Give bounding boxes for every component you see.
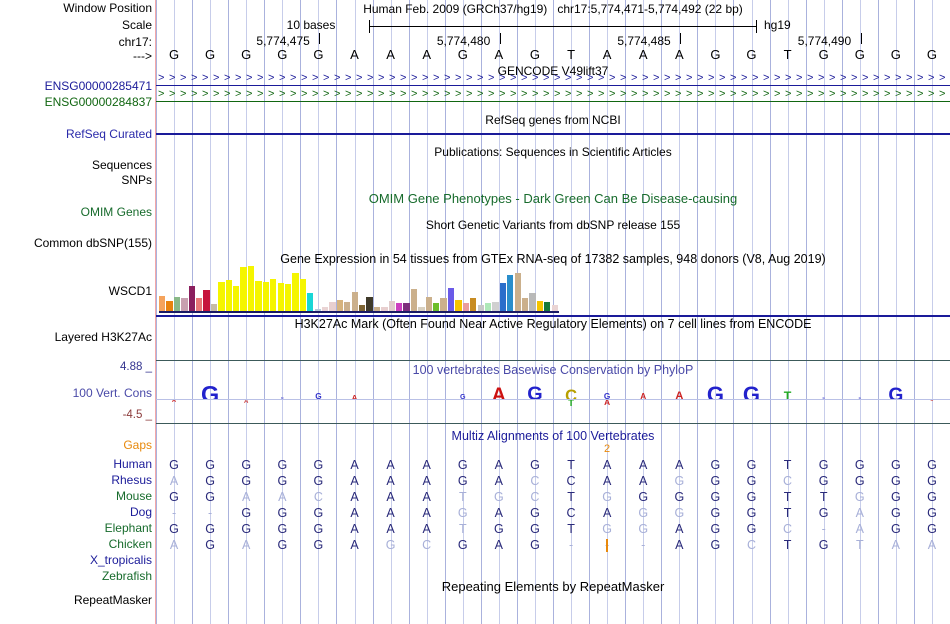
gene-strand-arrow-icon: > [686,89,692,100]
conservation-logo-letter: C [553,388,589,399]
alignment-base: G [481,521,517,537]
alignment-base: G [914,489,950,505]
alignment-base: G [733,473,769,489]
gene-strand-arrow-icon: > [444,89,450,100]
sequence-base: T [770,47,806,62]
label-100-vert-cons[interactable]: 100 Vert. Cons [4,387,156,400]
gtex-tissue-bar[interactable] [344,302,350,311]
sequence-base: A [373,47,409,62]
multiz-center-label: Multiz Alignments of 100 Vertebrates [156,429,950,443]
alignment-base: A [373,521,409,537]
gene-strand-arrow-icon: > [928,73,934,84]
gene-strand-arrow-icon: > [796,73,802,84]
alignment-base: T [445,521,481,537]
gene-strand-arrow-icon: > [455,73,461,84]
alignment-base: G [481,489,517,505]
gtex-tissue-bar[interactable] [470,298,476,311]
alignment-base: G [156,489,192,505]
reference-sequence-row: GGGGGAAAGAGTAAAGGTGGGG [156,47,950,65]
gene-strand-arrow-icon: > [620,73,626,84]
alignment-base: G [264,505,300,521]
gtex-tissue-bar[interactable] [263,282,269,311]
alignment-base: A [336,505,372,521]
gene-strand-arrow-icon: > [224,89,230,100]
gene-strand-arrow-icon: > [345,89,351,100]
gene-strand-arrow-icon: > [235,89,241,100]
alignment-base: A [481,473,517,489]
gene-strand-arrow-icon: > [422,73,428,84]
publications-center-label: Publications: Sequences in Scientific Ar… [156,145,950,159]
alignment-base: G [445,473,481,489]
gene-strand-arrow-icon: > [719,89,725,100]
conservation-logo-letter: G [878,386,914,399]
species-label-human[interactable]: Human [4,458,156,471]
alignment-base: A [409,521,445,537]
dbsnp-center-label: Short Genetic Variants from dbSNP releas… [156,218,950,232]
sequence-base: G [806,47,842,62]
gtex-tissue-bar[interactable] [448,288,454,311]
ruler-tick-mark [861,33,862,44]
gene-strand-arrow-icon: > [554,73,560,84]
alignment-base: G [625,505,661,521]
gene-strand-arrow-icon: > [433,89,439,100]
gene-strand-arrow-icon: > [774,89,780,100]
gene-strand-arrow-icon: > [818,89,824,100]
alignment-base: A [589,473,625,489]
alignment-base: G [661,489,697,505]
gtex-tissue-bar[interactable] [440,298,446,311]
gtex-tissue-bar[interactable] [292,273,298,311]
alignment-base: G [806,537,842,553]
gene-line [156,101,950,102]
conservation-logo-letter: A [661,391,697,399]
alignment-base: A [409,457,445,473]
track-label-column: Window Position Scale chr17: ---> ENSG00… [0,0,156,624]
gtex-tissue-bar[interactable] [485,303,491,311]
gtex-tissue-bar[interactable] [329,302,335,311]
alignment-base: - [553,537,589,553]
alignment-row-chicken[interactable]: AGAGGAGCGAG---AGCTGTAA [156,537,950,553]
alignment-base: G [842,489,878,505]
gtex-tissue-bar[interactable] [159,296,165,311]
alignment-row-dog[interactable]: --GGGAAAGAGCAGGGGTGAGG [156,505,950,521]
gene-strand-arrow-icon: > [488,89,494,100]
gene-strand-arrow-icon: > [598,89,604,100]
gene-strand-arrow-icon: > [532,73,538,84]
alignment-base: A [336,521,372,537]
gene-strand-arrow-icon: > [301,73,307,84]
alignment-base: G [192,473,228,489]
gene-strand-arrow-icon: > [686,73,692,84]
alignment-base: A [228,489,264,505]
gene-strand-arrow-icon: > [246,73,252,84]
gtex-tissue-bar[interactable] [240,267,246,311]
alignment-base: G [842,473,878,489]
gene-strand-arrow-icon: > [939,89,945,100]
gene-strand-arrow-icon: > [840,73,846,84]
alignment-base: G [878,489,914,505]
gtex-tissue-bar[interactable] [196,298,202,311]
gtex-tissue-bar[interactable] [544,302,550,311]
alignment-base: T [445,489,481,505]
sequence-base: G [300,47,336,62]
gtex-tissue-bar[interactable] [389,301,395,311]
alignment-base: G [697,457,733,473]
gene-strand-arrow-icon: > [312,89,318,100]
alignment-base: C [517,473,553,489]
gtex-tissue-bar[interactable] [181,298,187,311]
gene-strand-arrow-icon: > [521,89,527,100]
gtex-tissue-bar[interactable] [529,293,535,311]
alignment-base: - [156,505,192,521]
alignment-base: A [336,537,372,553]
gene-strand-arrow-icon: > [213,89,219,100]
gene-strand-arrow-icon: > [334,73,340,84]
alignment-row-rhesus[interactable]: AGGGGAAAGACCAAGGGCGGGG [156,473,950,489]
conservation-axis-max: 4.88 _ [4,361,156,374]
gene-strand-arrow-icon: > [422,89,428,100]
alignment-base: - [192,505,228,521]
refseq-divider-line [156,133,950,135]
gene-strand-arrow-icon: > [180,73,186,84]
sequence-base: G [733,47,769,62]
gene-strand-arrow-icon: > [169,73,175,84]
genome-browser-image: Window Position Scale chr17: ---> ENSG00… [0,0,950,624]
alignment-base: C [733,537,769,553]
alignment-base: G [697,473,733,489]
alignment-base: C [770,473,806,489]
gene-strand-arrow-icon: > [675,73,681,84]
label-gene-ensg00000285471[interactable]: ENSG00000285471 [4,80,156,93]
gene-strand-arrow-icon: > [301,89,307,100]
gene-strand-arrow-icon: > [609,89,615,100]
alignment-base: A [336,473,372,489]
gtex-tissue-bar[interactable] [515,273,521,311]
gene-strand-arrow-icon: > [158,73,164,84]
sequence-base: A [481,47,517,62]
alignment-base: A [842,521,878,537]
gap-size-label: 2 [589,444,625,455]
gtex-tissue-bar[interactable] [352,292,358,311]
alignment-base: G [264,537,300,553]
gtex-tissue-bar[interactable] [203,290,209,311]
gene-strand-arrow-icon: > [510,89,516,100]
alignment-base: A [373,457,409,473]
gene-strand-arrow-icon: > [917,89,923,100]
gene-strand-arrow-icon: > [477,89,483,100]
gtex-tissue-bar[interactable] [433,303,439,311]
gene-strand-arrow-icon: > [730,89,736,100]
gene-strand-arrow-icon: > [807,73,813,84]
sequence-base: G [264,47,300,62]
gene-strand-arrow-icon: > [939,73,945,84]
alignment-base: A [661,537,697,553]
alignment-row-elephant[interactable]: GGGGGAAATGGTGGAGGC-AGG [156,521,950,537]
alignment-base: G [517,457,553,473]
label-common-dbsnp[interactable]: Common dbSNP(155) [4,237,156,250]
alignment-row-x_tropicalis[interactable] [156,553,950,569]
sequence-base: G [192,47,228,62]
alignment-base: A [373,473,409,489]
gtex-tissue-bar[interactable] [189,286,195,311]
alignment-base: T [553,521,589,537]
alignment-base: A [481,537,517,553]
gtex-tissue-bar[interactable] [411,289,417,311]
gtex-tissue-bar[interactable] [211,304,217,311]
alignment-base: G [806,505,842,521]
gene-strand-arrow-icon: > [565,89,571,100]
alignment-base: A [625,473,661,489]
gtex-tissue-bar[interactable] [463,303,469,311]
alignment-base: A [336,489,372,505]
gene-strand-arrow-icon: > [642,73,648,84]
alignment-base: G [697,489,733,505]
alignment-base: C [300,489,336,505]
gene-strand-arrow-icon: > [730,73,736,84]
alignment-base: G [300,521,336,537]
gene-strand-arrow-icon: > [466,89,472,100]
gtex-tissue-bar[interactable] [307,293,313,311]
alignment-base: A [409,489,445,505]
alignment-base: G [806,473,842,489]
ruler-position-label: 5,774,485 [617,34,670,48]
ruler-tick-mark [319,33,320,44]
alignment-base: G [661,473,697,489]
alignment-base: G [264,521,300,537]
alignment-base: G [589,521,625,537]
alignment-base: A [878,537,914,553]
gtex-tissue-bar[interactable] [337,300,343,312]
species-label-zebrafish[interactable]: Zebrafish [4,570,156,583]
gene-strand-arrow-icon: > [323,73,329,84]
alignment-base: A [409,473,445,489]
gene-strand-arrow-icon: > [708,73,714,84]
alignment-base: G [697,505,733,521]
gtex-tissue-bar[interactable] [248,266,254,311]
gtex-tissue-bar[interactable] [522,298,528,311]
gene-strand-arrow-icon: > [279,73,285,84]
gene-strand-arrow-icon: > [279,89,285,100]
gtex-expression-barchart[interactable] [159,266,559,311]
gene-strand-arrow-icon: > [323,89,329,100]
gene-strand-arrow-icon: > [202,89,208,100]
refseq-center-label: RefSeq genes from NCBI [156,113,950,127]
label-omim-genes[interactable]: OMIM Genes [4,206,156,219]
gene-strand-arrow-icon: > [664,73,670,84]
gtex-tissue-bar[interactable] [403,303,409,311]
alignment-base: C [409,537,445,553]
gtex-tissue-bar[interactable] [500,283,506,311]
assembly-and-region: Human Feb. 2009 (GRCh37/hg19) chr17:5,77… [156,2,950,16]
label-chrom: chr17: [4,36,156,49]
region-coordinates: chr17:5,774,471-5,774,492 (22 bp) [557,2,742,16]
gtex-tissue-bar[interactable] [300,279,306,311]
gene-strand-arrow-icon: > [268,89,274,100]
gene-strand-arrow-icon: > [356,73,362,84]
gene-strand-arrow-icon: > [499,73,505,84]
gene-strand-arrow-icon: > [576,73,582,84]
gene-strand-arrow-icon: > [411,73,417,84]
gene-strand-arrow-icon: > [884,73,890,84]
gene-strand-arrow-icon: > [257,89,263,100]
gtex-tissue-bar[interactable] [218,282,224,311]
alignment-base: A [481,457,517,473]
label-refseq-curated[interactable]: RefSeq Curated [4,128,156,141]
alignment-base: G [697,537,733,553]
gene-strand-arrow-icon: > [532,89,538,100]
label-snps[interactable]: SNPs [4,174,156,187]
alignment-base: T [553,489,589,505]
gene-strand-arrow-icon: > [213,73,219,84]
gene-strand-arrow-icon: > [290,89,296,100]
gene-strand-arrow-icon: > [312,73,318,84]
alignment-base: A [914,537,950,553]
alignment-base: A [264,489,300,505]
gene-strand-arrow-icon: > [752,73,758,84]
gtex-tissue-bar[interactable] [507,275,513,311]
gene-strand-arrow-icon: > [719,73,725,84]
gene-strand-arrow-icon: > [609,73,615,84]
gene-strand-arrow-icon: > [576,89,582,100]
label-gene-ensg00000284837[interactable]: ENSG00000284837 [4,96,156,109]
species-label-x_tropicalis[interactable]: X_tropicalis [4,554,156,567]
alignment-base: A [625,457,661,473]
gtex-tissue-bar[interactable] [537,301,543,311]
gene-strand-arrow-icon: > [433,73,439,84]
gene-strand-arrow-icon: > [796,89,802,100]
alignment-base: C [770,521,806,537]
alignment-base: A [481,505,517,521]
alignment-base: G [445,537,481,553]
gtex-tissue-bar[interactable] [233,286,239,311]
gene-strand-arrow-icon: > [631,89,637,100]
species-label-dog[interactable]: Dog [4,506,156,519]
alignment-base: G [228,457,264,473]
species-label-mouse[interactable]: Mouse [4,490,156,503]
alignment-base: G [878,473,914,489]
label-wscd1[interactable]: WSCD1 [4,285,156,298]
gtex-tissue-bar[interactable] [255,281,261,311]
gtex-tissue-bar[interactable] [285,284,291,311]
alignment-base: G [878,457,914,473]
repeatmasker-center-label: Repeating Elements by RepeatMasker [156,579,950,594]
sequence-base: G [914,47,950,62]
gene-strand-arrow-icon: > [400,73,406,84]
species-label-elephant[interactable]: Elephant [4,522,156,535]
gtex-tissue-bar[interactable] [226,280,232,311]
gene-strand-arrow-icon: > [675,89,681,100]
conservation-logo-letter: G [697,384,733,399]
gene-row-ensg00000284837[interactable]: >>>>>>>>>>>>>>>>>>>>>>>>>>>>>>>>>>>>>>>>… [156,96,950,107]
alignment-base: G [300,537,336,553]
gene-strand-arrow-icon: > [224,73,230,84]
gene-strand-arrow-icon: > [543,89,549,100]
gtex-tissue-bar[interactable] [278,283,284,311]
label-gaps: Gaps [4,439,156,452]
gtex-tissue-bar[interactable] [366,297,372,311]
alignment-base: G [264,473,300,489]
alignment-base: C [553,505,589,521]
alignment-base: C [517,489,553,505]
alignment-base: G [445,505,481,521]
gtex-tissue-bar[interactable] [174,297,180,311]
gene-strand-arrow-icon: > [829,89,835,100]
ruler-position-label: 5,774,490 [798,34,851,48]
alignment-base: G [914,457,950,473]
alignment-row-mouse[interactable]: GGAACAAATGCTGGGGGTTGGG [156,489,950,505]
gtex-tissue-bar[interactable] [455,300,461,312]
alignment-base: G [445,457,481,473]
alignment-base: G [373,537,409,553]
scale-tick-left [369,20,370,33]
sequence-base: G [878,47,914,62]
alignment-base: T [770,537,806,553]
label-sequences[interactable]: Sequences [4,159,156,172]
gene-strand-arrow-icon: > [873,89,879,100]
species-label-chicken[interactable]: Chicken [4,538,156,551]
sequence-base: G [228,47,264,62]
gene-strand-arrow-icon: > [466,73,472,84]
gene-strand-arrow-icon: > [411,89,417,100]
sequence-base: A [589,47,625,62]
sequence-base: A [409,47,445,62]
alignment-base: - [806,521,842,537]
label-repeatmasker[interactable]: RepeatMasker [4,594,156,607]
alignment-base: G [589,489,625,505]
alignment-base: A [661,521,697,537]
gene-strand-arrow-icon: > [389,73,395,84]
conservation-top-border [156,360,950,361]
gene-strand-arrow-icon: > [356,89,362,100]
gene-strand-arrow-icon: > [455,89,461,100]
gene-strand-arrow-icon: > [191,73,197,84]
gene-line [156,85,950,86]
alignment-base: G [192,521,228,537]
gtex-tissue-bar[interactable] [492,302,498,311]
alignment-base: G [661,505,697,521]
alignment-row-human[interactable]: GGGGGAAAGAGTAAAGGTGGGG [156,457,950,473]
gene-strand-arrow-icon: > [752,89,758,100]
alignment-base: G [733,457,769,473]
alignment-base: A [589,457,625,473]
alignment-base: G [733,521,769,537]
conservation-axis-min-value: -4.5 [123,409,143,421]
conservation-center-label: 100 vertebrates Basewise Conservation by… [156,363,950,377]
gene-strand-arrow-icon: > [708,89,714,100]
gene-strand-arrow-icon: > [807,89,813,100]
scale-bar-line [369,26,756,27]
gtex-tissue-bar[interactable] [166,301,172,311]
species-label-rhesus[interactable]: Rhesus [4,474,156,487]
alignment-base: A [156,537,192,553]
gene-strand-arrow-icon: > [367,73,373,84]
sequence-base: G [445,47,481,62]
scale-bar-text: 10 bases [256,18,366,32]
sequence-base: A [661,47,697,62]
alignment-base: G [697,521,733,537]
gtex-tissue-bar[interactable] [426,297,432,311]
track-data-area: Human Feb. 2009 (GRCh37/hg19) chr17:5,77… [156,0,950,624]
label-window-position: Window Position [4,2,156,15]
gene-strand-arrow-icon: > [906,89,912,100]
gene-strand-arrow-icon: > [774,73,780,84]
gene-strand-arrow-icon: > [345,73,351,84]
gtex-tissue-bar[interactable] [270,279,276,311]
label-layered-h3k27ac[interactable]: Layered H3K27Ac [4,331,156,344]
alignment-base: A [373,505,409,521]
sequence-base: G [156,47,192,62]
gtex-tissue-bar[interactable] [396,303,402,311]
